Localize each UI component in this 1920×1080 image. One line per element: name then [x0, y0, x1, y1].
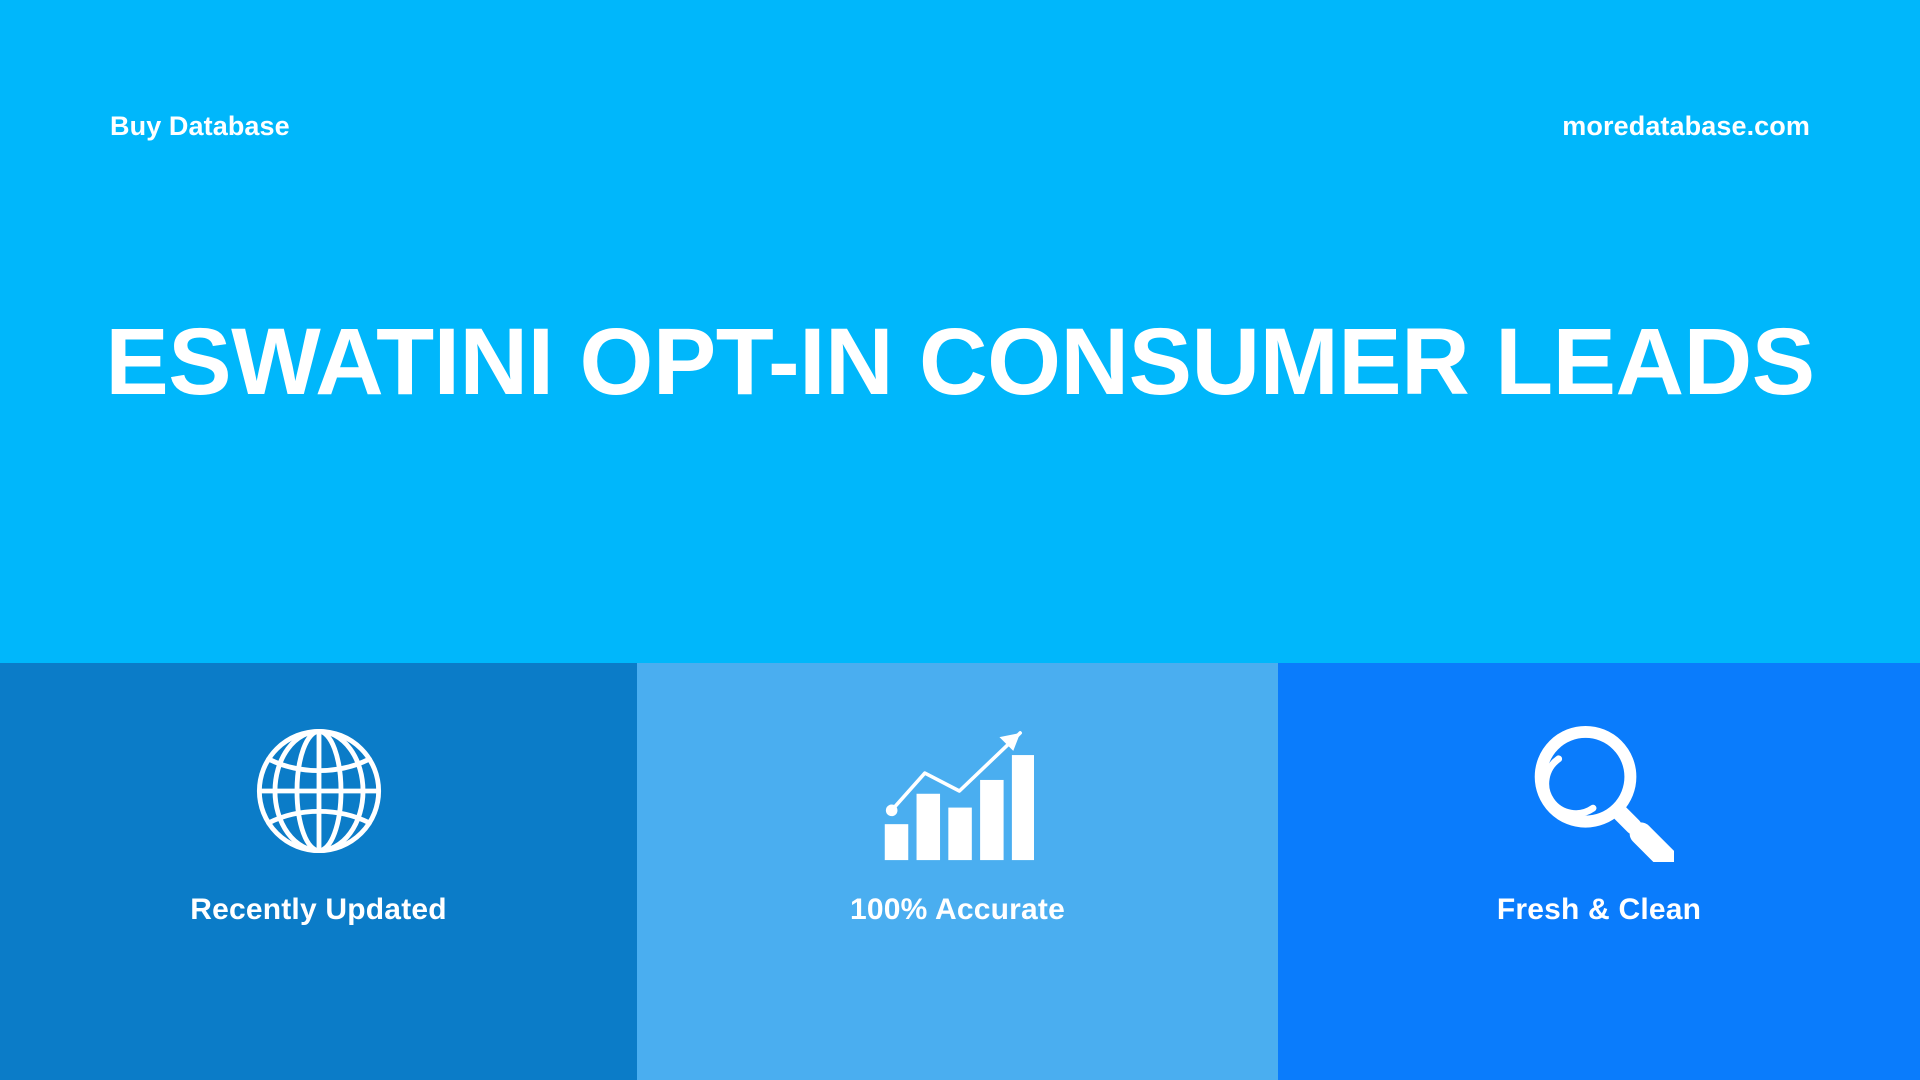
feature-card-accurate: 100% Accurate: [637, 663, 1278, 1080]
feature-card-fresh-clean: Fresh & Clean: [1278, 663, 1920, 1080]
feature-strip: Recently Updated: [0, 663, 1920, 1080]
banner-header: Buy Database moredatabase.com ESWATINI O…: [0, 0, 1920, 663]
brand-name: Buy Database: [110, 104, 290, 148]
growth-bar-chart-icon: [882, 711, 1034, 871]
magnifier-icon: [1524, 711, 1674, 871]
feature-label-accurate: 100% Accurate: [850, 893, 1065, 927]
header-brand-bar: Buy Database moredatabase.com: [0, 104, 1920, 148]
page-title: ESWATINI OPT-IN CONSUMER LEADS: [95, 300, 1825, 425]
feature-card-recently-updated: Recently Updated: [0, 663, 637, 1080]
promo-banner: Buy Database moredatabase.com ESWATINI O…: [0, 0, 1920, 1080]
globe-icon: [248, 711, 390, 871]
website-url: moredatabase.com: [1562, 104, 1810, 148]
feature-label-fresh-clean: Fresh & Clean: [1497, 893, 1701, 927]
feature-label-recently-updated: Recently Updated: [190, 893, 447, 927]
